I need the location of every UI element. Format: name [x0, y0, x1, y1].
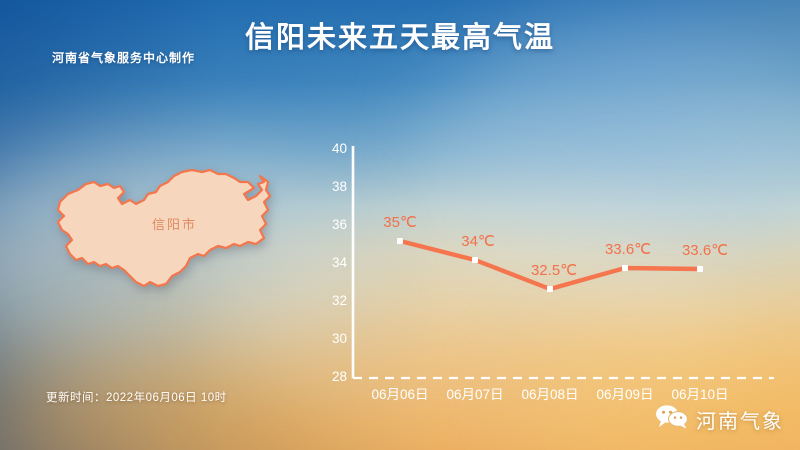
temperature-line-chart: 40 38 36 34 32 30 28 35℃ 34℃ 3: [330, 132, 780, 402]
y-tick-28: 28: [332, 369, 347, 384]
data-label-1: 34℃: [461, 233, 495, 250]
data-point-3: [622, 265, 628, 271]
x-tick-4: 06月10日: [671, 387, 728, 402]
data-label-0: 35℃: [383, 214, 417, 231]
x-tick-2: 06月08日: [521, 387, 578, 402]
y-tick-34: 34: [332, 255, 348, 270]
y-tick-38: 38: [332, 179, 347, 194]
data-point-4: [697, 266, 703, 272]
wechat-icon: [655, 404, 689, 434]
y-tick-30: 30: [332, 331, 347, 346]
y-tick-40: 40: [332, 141, 347, 156]
y-tick-32: 32: [332, 293, 347, 308]
x-tick-3: 06月09日: [596, 387, 653, 402]
y-axis-ticks: 40 38 36 34 32 30 28: [332, 141, 348, 384]
data-point-2: [547, 286, 553, 292]
x-tick-0: 06月06日: [371, 387, 428, 402]
data-label-2: 32.5℃: [531, 262, 577, 279]
map-region-label: 信阳市: [152, 214, 197, 233]
watermark: 河南气象: [655, 404, 784, 434]
x-axis-ticks: 06月06日 06月07日 06月08日 06月09日 06月10日: [371, 387, 728, 402]
x-tick-1: 06月07日: [446, 387, 503, 402]
poster-canvas: 信阳未来五天最高气温 河南省气象服务中心制作 信阳市 40 38 36 34 3…: [0, 0, 800, 450]
data-label-3: 33.6℃: [605, 241, 651, 258]
watermark-label: 河南气象: [696, 405, 784, 434]
producer-credit: 河南省气象服务中心制作: [52, 49, 195, 66]
data-point-0: [397, 238, 403, 244]
data-label-4: 33.6℃: [682, 242, 728, 259]
data-point-1: [472, 257, 478, 263]
update-time: 更新时间：2022年06月06日 10时: [46, 389, 227, 405]
y-tick-36: 36: [332, 217, 347, 232]
